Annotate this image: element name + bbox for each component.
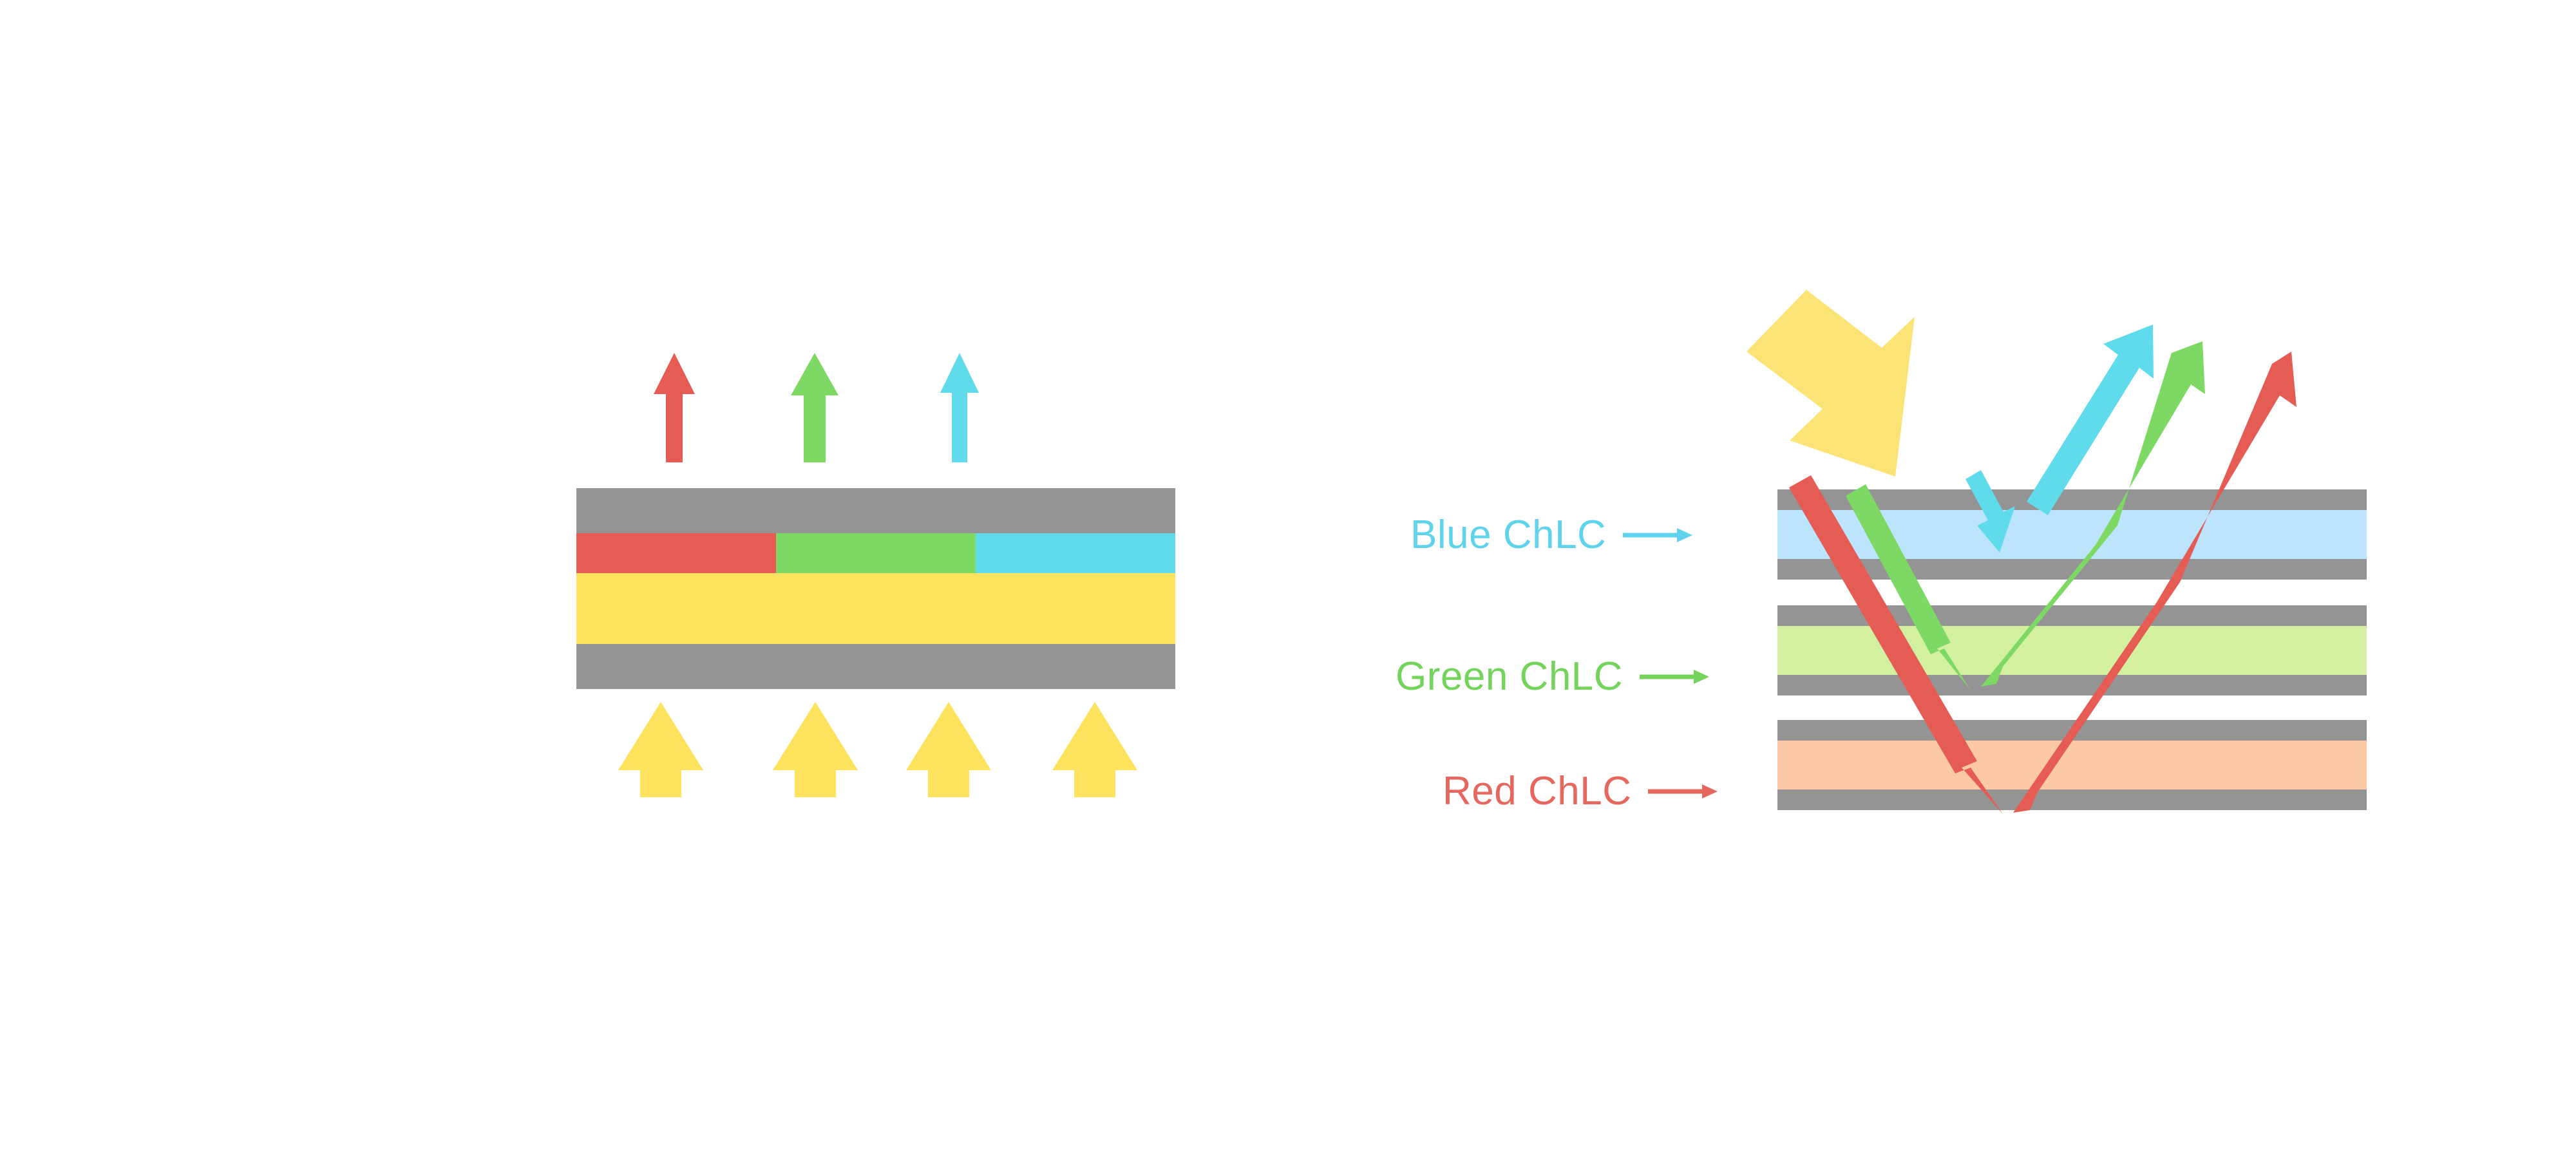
green-chlc-label: Green ChLC	[1396, 657, 1623, 697]
green-chlc-label-row: Green ChLC	[1396, 657, 1710, 697]
red-chlc-label: Red ChLC	[1443, 771, 1631, 811]
blue-chlc-label-row: Blue ChLC	[1410, 515, 1694, 555]
right-panel-graphics	[0, 0, 2576, 1154]
red-label-arrow-icon	[1648, 780, 1719, 803]
blue-ray-out	[2027, 325, 2154, 515]
green-chlc-layer	[1777, 626, 2367, 675]
diagram-canvas: Blue ChLC Green ChLC Red ChLC	[0, 0, 2576, 1154]
blue-label-arrow-icon	[1623, 524, 1694, 547]
red-cell-bottom-electrode	[1777, 790, 2367, 810]
red-chlc-label-row: Red ChLC	[1443, 771, 1719, 811]
blue-chlc-label: Blue ChLC	[1410, 515, 1606, 555]
red-chlc-layer	[1777, 741, 2367, 790]
green-label-arrow-icon	[1640, 665, 1710, 688]
white-light-incident-arrow	[1747, 290, 1915, 477]
green-cell-bottom-electrode	[1777, 675, 2367, 695]
